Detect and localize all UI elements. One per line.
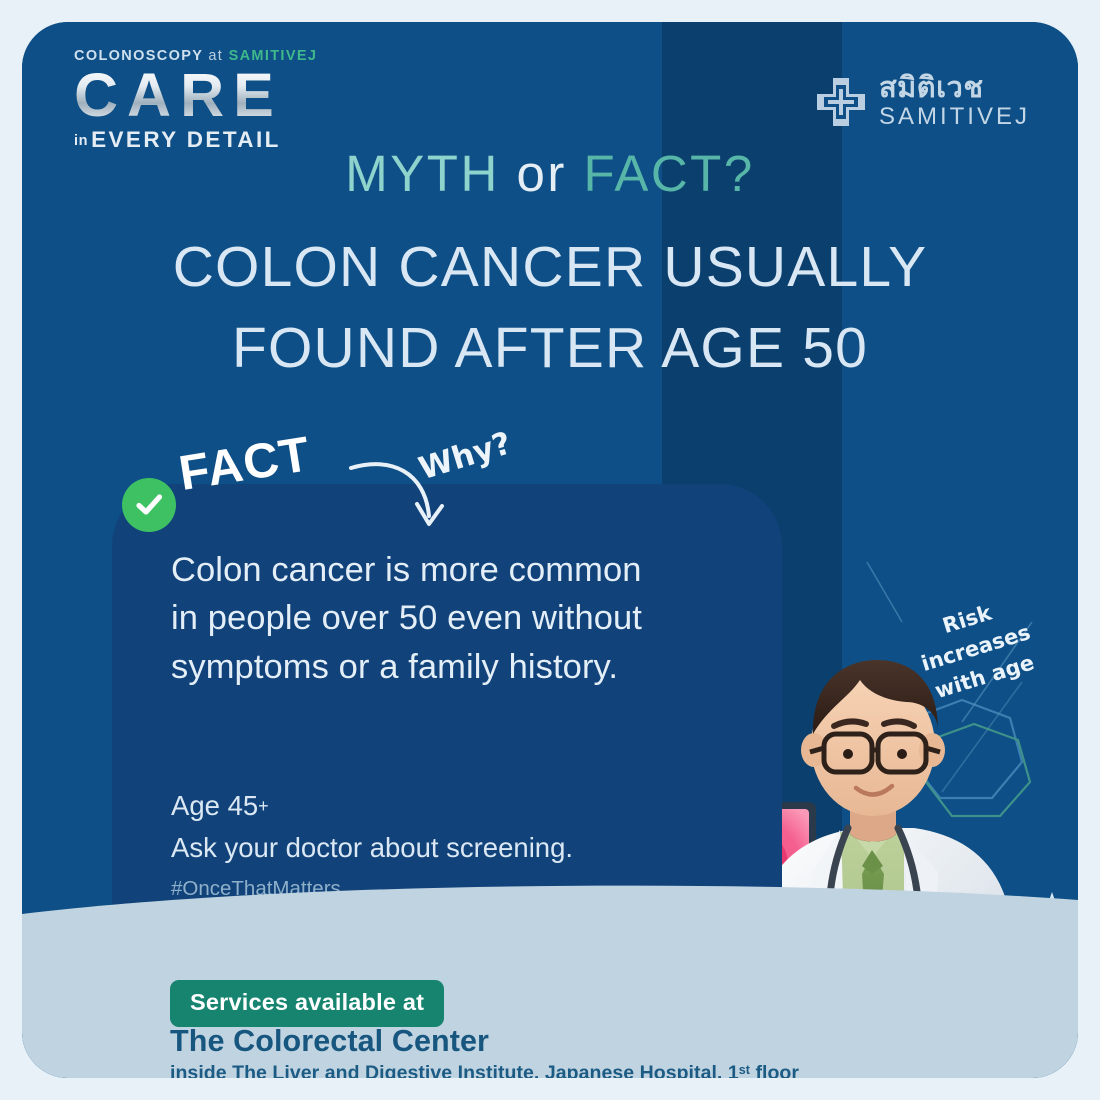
fact-body-line-1: Colon cancer is more common — [171, 546, 751, 594]
poster-canvas: COLONOSCOPY at SAMITIVEJ CARE inEVERY DE… — [0, 0, 1100, 1100]
medical-cross-icon — [815, 76, 867, 128]
myth-or-fact-heading: MYTH or FACT? — [22, 144, 1078, 203]
age-recommendation: Age 45+ — [171, 790, 269, 822]
check-glyph — [133, 489, 165, 521]
care-logo-block: COLONOSCOPY at SAMITIVEJ CARE inEVERY DE… — [74, 48, 317, 153]
title-line-1: COLON CANCER USUALLY — [22, 227, 1078, 308]
ask-doctor-text: Ask your doctor about screening. — [171, 832, 573, 864]
services-available-badge: Services available at — [170, 980, 444, 1027]
samitivej-english: SAMITIVEJ — [879, 105, 1030, 129]
logo-care-word: CARE — [74, 66, 317, 126]
address-prefix: inside The Liver and Digestive Institute… — [170, 1062, 739, 1078]
fact-body-line-2: in people over 50 even without — [171, 594, 751, 642]
address-suffix: floor — [750, 1062, 799, 1078]
main-blue-board: COLONOSCOPY at SAMITIVEJ CARE inEVERY DE… — [22, 22, 1078, 1078]
fact-body-text: Colon cancer is more common in people ov… — [171, 546, 751, 691]
center-name: The Colorectal Center — [170, 1024, 489, 1059]
samitivej-thai: สมิติเวช — [879, 74, 1030, 103]
fact-body-line-3: symptoms or a family history. — [171, 643, 751, 691]
age-plus-sign: + — [258, 796, 269, 816]
center-address: inside The Liver and Digestive Institute… — [170, 1062, 799, 1078]
check-circle-icon — [122, 478, 176, 532]
title-line-2: FOUND AFTER AGE 50 — [22, 308, 1078, 389]
heading-or: or — [516, 145, 566, 202]
samitivej-wordmark: สมิติเวช SAMITIVEJ — [879, 74, 1030, 129]
heading-myth: MYTH — [345, 145, 499, 202]
samitivej-logo: สมิติเวช SAMITIVEJ — [815, 74, 1030, 129]
age-value: Age 45 — [171, 790, 258, 821]
page-title: COLON CANCER USUALLY FOUND AFTER AGE 50 — [22, 227, 1078, 389]
address-ordinal: st — [739, 1063, 750, 1077]
heading-fact: FACT? — [583, 145, 754, 202]
